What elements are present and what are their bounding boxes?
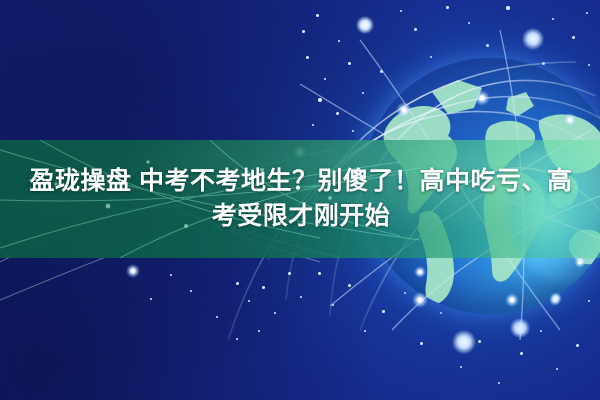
banner-image: 盈珑操盘 中考不考地生？别傻了！高中吃亏、高 考受限才刚开始 [0, 0, 600, 400]
headline-line-2: 考受限才刚开始 [210, 202, 391, 232]
headline-text: 盈珑操盘 中考不考地生？别傻了！高中吃亏、高 考受限才刚开始 [0, 140, 600, 258]
headline-line-1: 盈珑操盘 中考不考地生？别傻了！高中吃亏、高 [28, 167, 573, 197]
